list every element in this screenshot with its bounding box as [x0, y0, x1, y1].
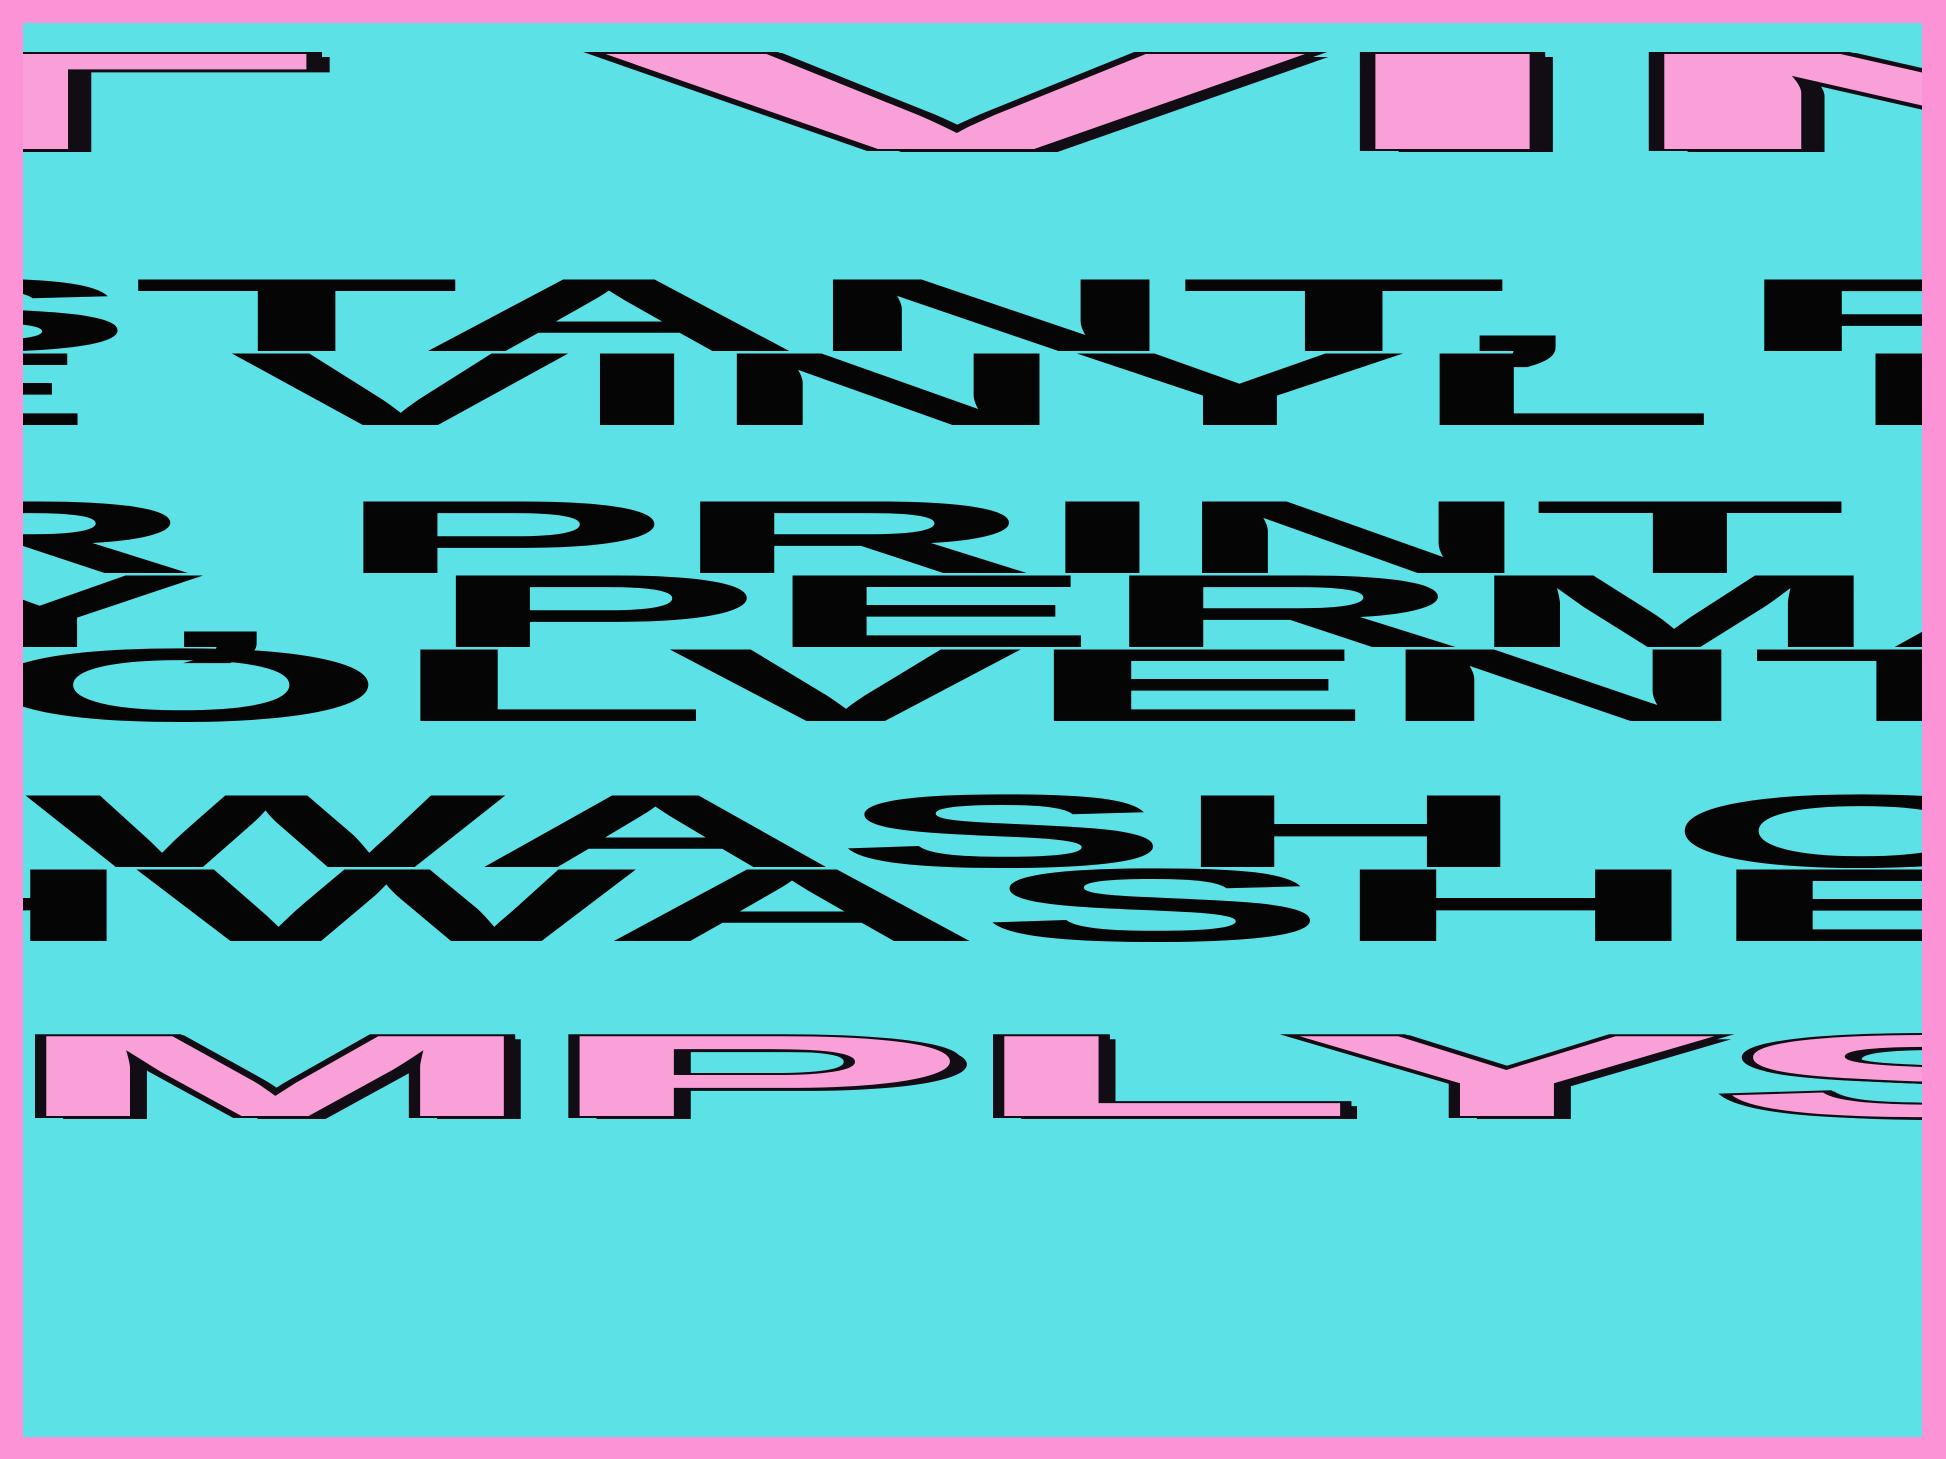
social-handle: @SHOPSIMPLYSTELLAR — [23, 1023, 1922, 1130]
features-line-2: ADHESIVE VINYL DESIGNS — [23, 343, 1922, 439]
poster-title: PERMANENT VINYL CUP WRAP — [23, 39, 1922, 166]
poster-canvas: PERMANENT VINYL CUP WRAP WATER RESISTANT… — [23, 23, 1922, 1437]
printing-line-3: ECOSOLVENT INK — [23, 639, 1922, 735]
care-line-2: NOT DISHWASHER SAFE — [23, 859, 1922, 955]
poster-graphic: PERMANENT VINYL CUP WRAP WATER RESISTANT… — [0, 0, 1946, 1459]
